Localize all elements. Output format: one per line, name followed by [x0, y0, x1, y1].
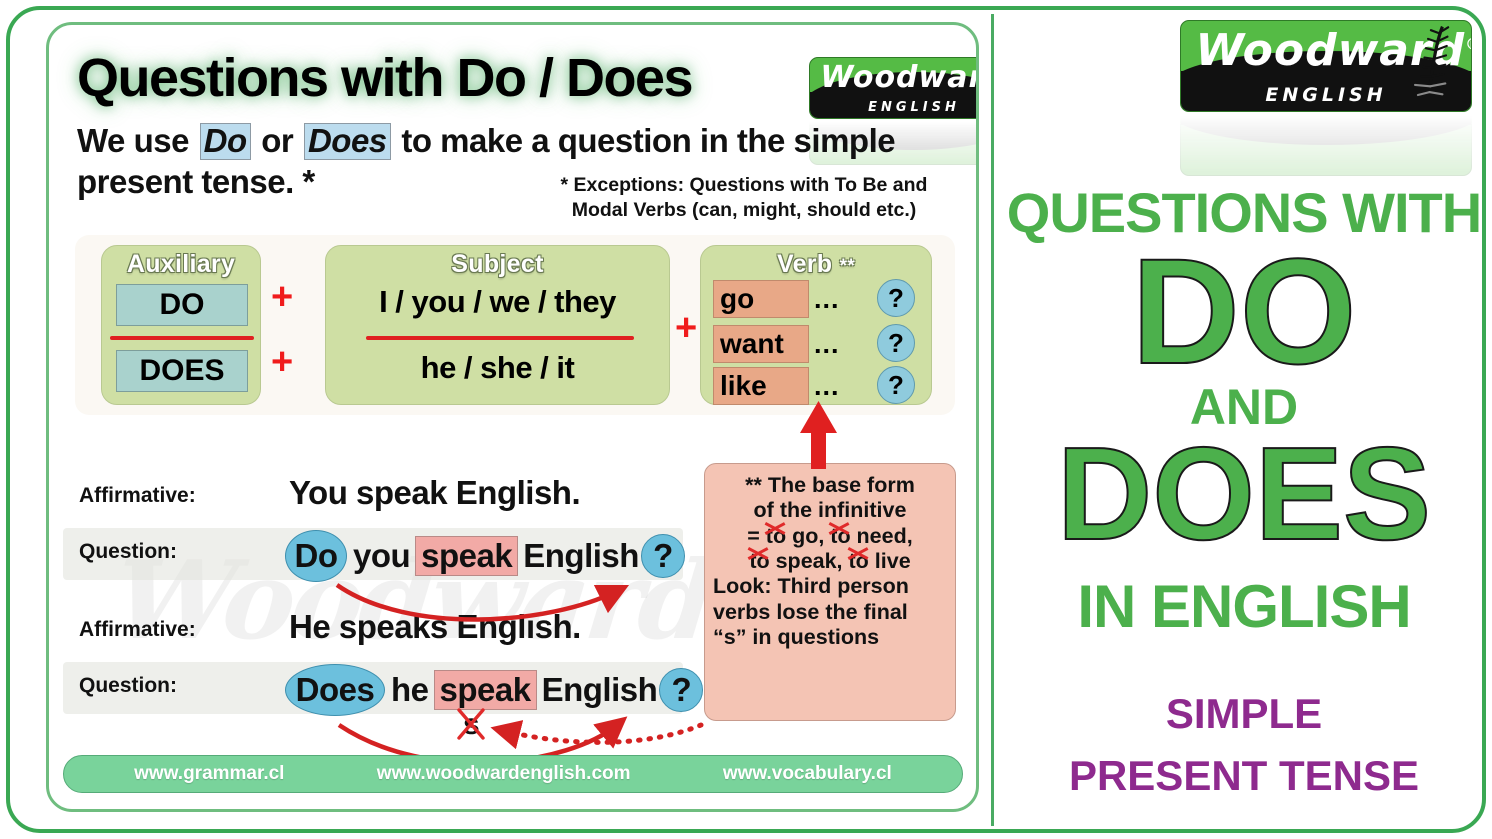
question-sentence: Does he speak English ?: [285, 664, 703, 716]
auxiliary-panel: Auxiliary DO DOES: [101, 245, 261, 405]
right-does: DOES: [996, 428, 1492, 560]
logo-reflection-curve: [1180, 111, 1472, 145]
question-object: English: [542, 671, 658, 709]
crossed-to: to: [849, 549, 869, 574]
link-vocabulary-cl[interactable]: www.vocabulary.cl: [723, 763, 892, 785]
infinitive-note-box: ** The base form of the infinitive = to …: [704, 463, 956, 721]
link-woodwardenglish-com[interactable]: www.woodwardenglish.com: [377, 763, 631, 785]
logo-wordmark: Woodward®: [820, 60, 979, 95]
intro-does-highlight: Does: [304, 123, 391, 160]
verb-header: Verb **: [701, 250, 931, 279]
note-live: live: [869, 549, 911, 573]
link-grammar-cl[interactable]: www.grammar.cl: [134, 763, 284, 785]
auxiliary-do-box: DO: [116, 284, 248, 326]
subject-line-2: he / she / it: [326, 350, 669, 386]
page-title: Questions with Do / Does: [77, 47, 777, 109]
question-mark-circle: ?: [641, 534, 685, 578]
auxiliary-does-box: DOES: [116, 350, 248, 392]
logo-wordmark-text: Woodward: [820, 60, 979, 95]
auxiliary-divider: [110, 336, 254, 340]
note-need: need,: [851, 524, 913, 548]
question-mark-circle: ?: [877, 279, 915, 317]
dropped-s-marker: s: [463, 708, 480, 742]
fern-icon: [1399, 23, 1463, 109]
affirmative-sentence: You speak English.: [289, 474, 580, 512]
lesson-card: Woodward Questions with Do / Does Woodwa…: [46, 22, 979, 812]
registered-icon: ®: [1465, 34, 1472, 53]
note-line-3: = to go, to need,: [713, 524, 947, 549]
exception-line-1: * Exceptions: Questions with To Be and: [529, 173, 959, 198]
note-go: go,: [786, 524, 830, 548]
question-aux-highlight: Do: [285, 530, 347, 582]
verb-row: go ...: [713, 279, 840, 319]
right-do: DO: [996, 236, 1492, 386]
verb-ellipsis: ...: [814, 284, 840, 315]
right-present-tense: PRESENT TENSE: [996, 752, 1492, 800]
question-subject: he: [391, 671, 429, 709]
logo-reflection: ENGLISH: [1180, 112, 1472, 176]
note-line-6: verbs lose the final: [713, 600, 947, 625]
logo-badge: Woodward® ENGLISH: [809, 57, 979, 119]
subject-divider: [366, 336, 634, 340]
intro-part1: We use: [77, 122, 198, 159]
affirmative-label: Affirmative:: [79, 484, 196, 508]
verb-box: go: [713, 280, 809, 318]
logo-badge: Woodward® ENGLISH: [1180, 20, 1472, 112]
plus-sign-3: +: [675, 309, 697, 347]
logo-subtitle: ENGLISH: [810, 100, 979, 115]
crossed-to: to: [766, 524, 786, 549]
question-mark-circle: ?: [877, 366, 915, 404]
verb-box: like: [713, 367, 809, 405]
crossed-to: to: [749, 549, 769, 574]
fern-icon: [966, 59, 979, 117]
note-line-1: ** The base form: [713, 473, 947, 498]
question-object: English: [523, 537, 639, 575]
verb-header-stars: **: [840, 256, 855, 277]
note-block-2: Look: Third person verbs lose the final …: [713, 574, 947, 650]
question-aux-highlight: Does: [285, 664, 385, 716]
formula-strip: Auxiliary DO DOES + + Subject I / you / …: [75, 235, 955, 415]
verb-header-label: Verb: [777, 250, 832, 278]
affirmative-label: Affirmative:: [79, 618, 196, 642]
right-simple: SIMPLE: [996, 690, 1492, 738]
note-speak: speak,: [770, 549, 849, 573]
auxiliary-header: Auxiliary: [102, 250, 260, 279]
verb-ellipsis: ...: [814, 371, 840, 402]
subject-header: Subject: [326, 250, 669, 279]
exception-line-2: Modal Verbs (can, might, should etc.): [529, 198, 959, 223]
crossed-to: to: [830, 524, 850, 549]
woodward-logo-small: Woodward® ENGLISH: [809, 57, 979, 119]
plus-sign-2: +: [271, 343, 293, 381]
question-verb-highlight: speak: [434, 670, 537, 710]
right-in-english: IN ENGLISH: [996, 572, 1492, 641]
note-line-2: of the infinitive: [713, 498, 947, 523]
note-line-4: to speak, to live: [713, 549, 947, 574]
verb-row: want ...: [713, 324, 840, 364]
question-label: Question:: [79, 674, 177, 698]
subject-line-1: I / you / we / they: [326, 284, 669, 320]
affirmative-sentence: He speaks English.: [289, 608, 581, 646]
verb-ellipsis: ...: [814, 329, 840, 360]
title-panel: Woodward® ENGLISH: [996, 0, 1492, 839]
verb-panel: Verb ** go ... ? want ... ? like ... ?: [700, 245, 932, 405]
note-eq: =: [747, 524, 766, 548]
question-label: Question:: [79, 540, 177, 564]
question-subject: you: [353, 537, 410, 575]
center-divider: [991, 14, 994, 826]
intro-part2: or: [253, 122, 302, 159]
footer-links-bar: www.grammar.cl www.woodwardenglish.com w…: [63, 755, 963, 793]
question-mark-circle: ?: [877, 324, 915, 362]
note-line-7: “s” in questions: [713, 625, 947, 650]
verb-box: want: [713, 325, 809, 363]
question-sentence: Do you speak English ?: [285, 530, 685, 582]
exception-note: * Exceptions: Questions with To Be and M…: [529, 173, 959, 222]
plus-sign-1: +: [271, 278, 293, 316]
examples-section: Affirmative: You speak English. Question…: [49, 440, 709, 740]
dropped-s-letter: s: [463, 708, 480, 741]
intro-do-highlight: Do: [200, 123, 251, 160]
infographic-canvas: Woodward Questions with Do / Does Woodwa…: [0, 0, 1492, 839]
verb-row: like ...: [713, 366, 840, 406]
question-mark-circle: ?: [659, 668, 703, 712]
question-verb-highlight: speak: [415, 536, 518, 576]
woodward-logo-large: Woodward® ENGLISH: [1180, 20, 1472, 112]
subject-panel: Subject I / you / we / they he / she / i…: [325, 245, 670, 405]
note-line-5: Look: Third person: [713, 574, 947, 599]
